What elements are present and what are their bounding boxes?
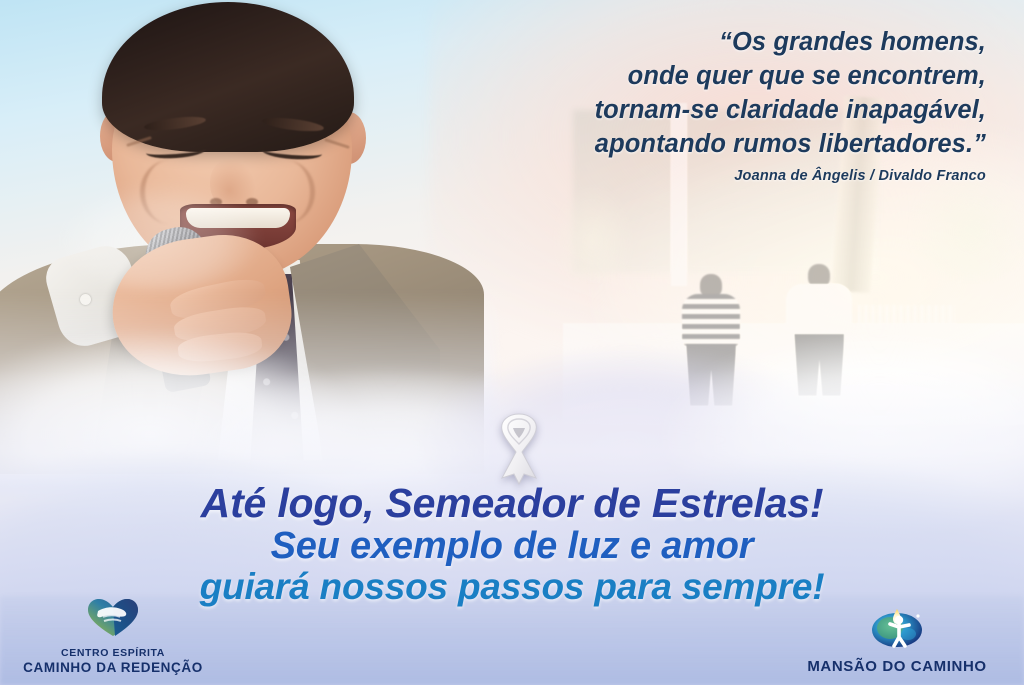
quote-line-4: apontando rumos libertadores.” bbox=[426, 128, 986, 162]
quote-attribution: Joanna de Ângelis / Divaldo Franco bbox=[426, 168, 986, 184]
quote-line-2: onde quer que se encontrem, bbox=[426, 60, 986, 94]
logo-left-line-1: CENTRO ESPÍRITA bbox=[8, 647, 218, 659]
person-torso bbox=[786, 284, 852, 340]
logo-centro-espirita: CENTRO ESPÍRITA CAMINHO DA REDENÇÃO bbox=[8, 596, 218, 675]
mourning-ribbon-icon bbox=[486, 408, 552, 488]
headline-line-2: Seu exemplo de luz e amor bbox=[0, 527, 1024, 567]
person-torso bbox=[682, 294, 740, 346]
photo-palm-left bbox=[553, 185, 632, 280]
headline: Até logo, Semeador de Estrelas! Seu exem… bbox=[0, 482, 1024, 607]
heart-hand-icon bbox=[8, 596, 218, 643]
logo-left-line-2: CAMINHO DA REDENÇÃO bbox=[8, 660, 218, 675]
logo-mansao-do-caminho: MANSÃO DO CAMINHO bbox=[782, 603, 1012, 675]
teeth bbox=[186, 208, 290, 228]
quote-line-1: “Os grandes homens, bbox=[426, 26, 986, 60]
memorial-poster: “Os grandes homens, onde quer que se enc… bbox=[0, 0, 1024, 685]
logo-right-line-1: MANSÃO DO CAMINHO bbox=[782, 658, 1012, 675]
photo-fence bbox=[858, 305, 956, 355]
quote-text: “Os grandes homens, onde quer que se enc… bbox=[426, 26, 986, 162]
quote-line-3: tornam-se claridade inapagável, bbox=[426, 94, 986, 128]
globe-figure-icon bbox=[782, 603, 1012, 654]
headline-line-1: Até logo, Semeador de Estrelas! bbox=[0, 482, 1024, 525]
